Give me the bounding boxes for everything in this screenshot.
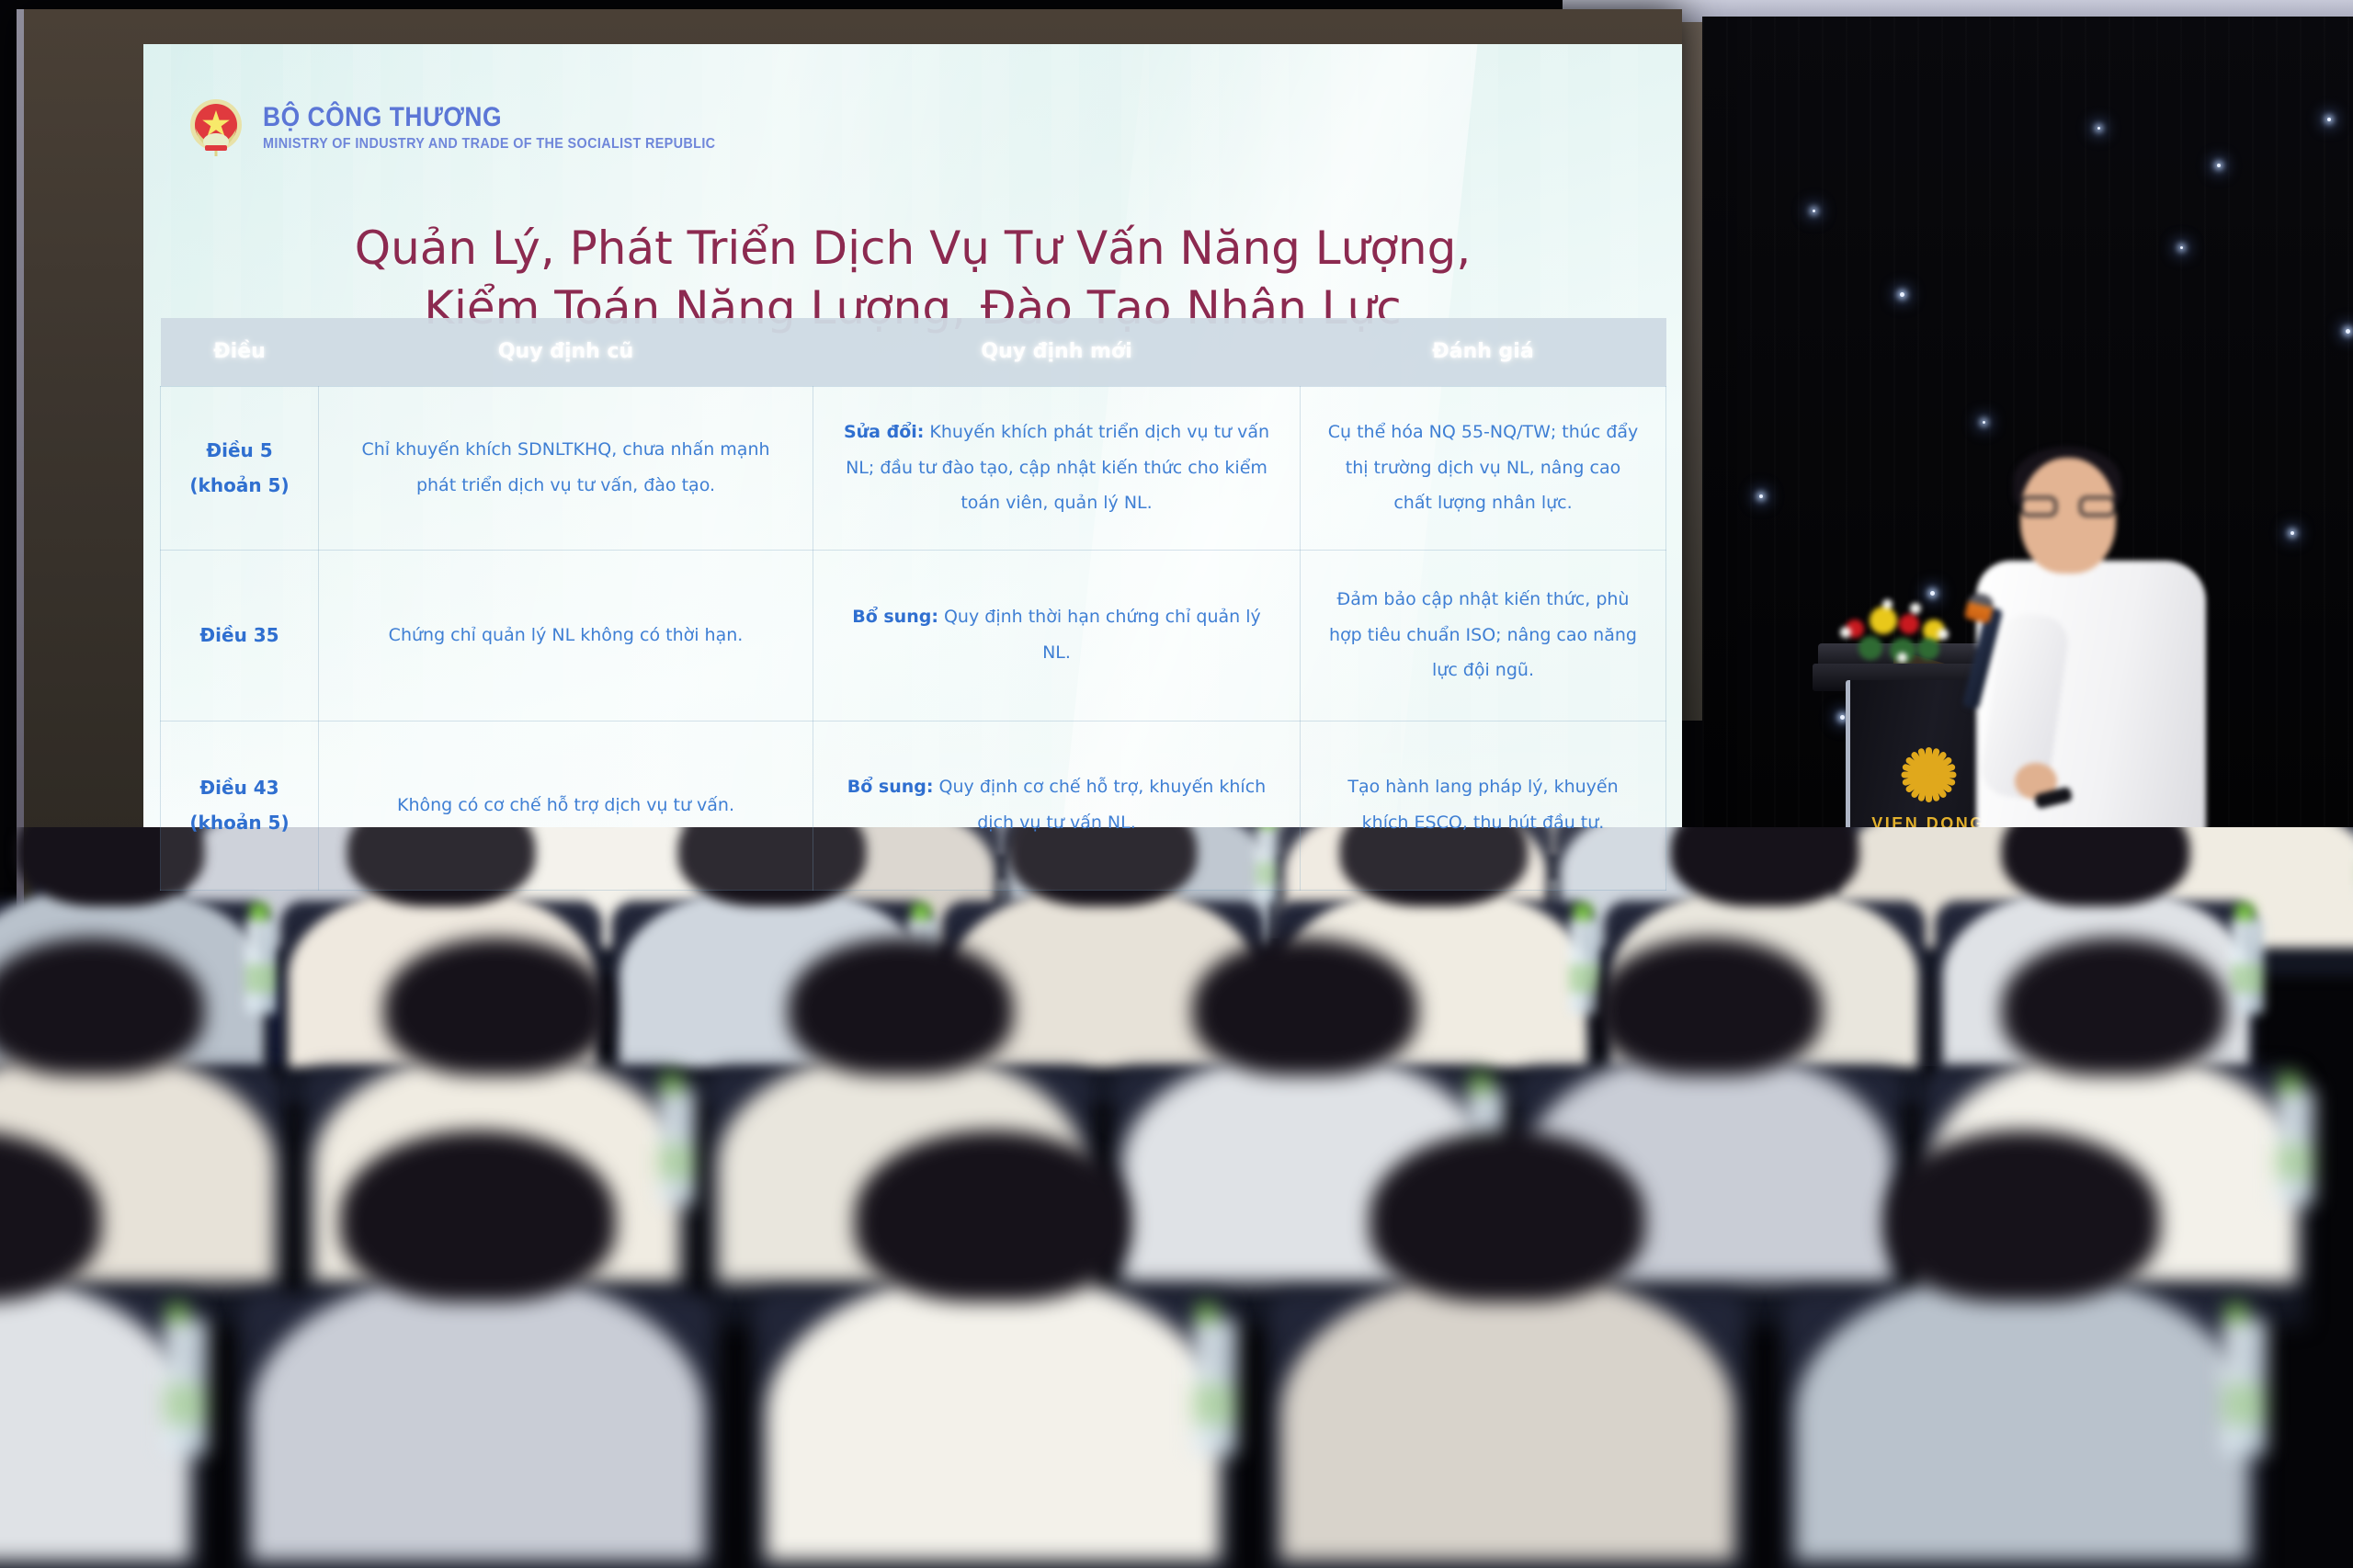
col-header-new-rule: Quy định mới: [813, 318, 1301, 386]
audience-head: [0, 937, 205, 1075]
cell-old-rule: Không có cơ chế hỗ trợ dịch vụ tư vấn.: [319, 721, 813, 890]
flower: [1840, 627, 1851, 638]
audience-member: [1268, 1131, 1746, 1568]
audience-head: [340, 1131, 616, 1301]
eyeglasses-icon: [2020, 496, 2116, 517]
flower: [1899, 614, 1919, 634]
flower: [1882, 599, 1893, 609]
audience-shoulders: [1280, 1271, 1734, 1561]
flower: [1938, 629, 1949, 640]
regulation-comparison-table: Điều Quy định cũ Quy định mới Đánh giá Đ…: [160, 318, 1666, 891]
table-row: Điều 43 (khoản 5) Không có cơ chế hỗ trợ…: [161, 721, 1666, 890]
change-detail: Quy định thời hạn chứng chỉ quản lý NL.: [938, 607, 1261, 663]
audience-member: [239, 1131, 717, 1568]
flower: [1897, 653, 1907, 663]
slide-header: BỘ CÔNG THƯƠNG MINISTRY OF INDUSTRY AND …: [188, 97, 766, 158]
title-line-1: Quản Lý, Phát Triển Dịch Vụ Tư Vấn Năng …: [143, 219, 1682, 278]
change-type-label: Sửa đổi:: [844, 422, 924, 442]
cell-assessment: Cụ thể hóa NQ 55-NQ/TW; thúc đẩy thị trư…: [1301, 386, 1666, 550]
table-row: Điều 35 Chứng chỉ quản lý NL không có th…: [161, 550, 1666, 721]
projection-screen-frame: BỘ CÔNG THƯƠNG MINISTRY OF INDUSTRY AND …: [17, 9, 1682, 970]
star-light: [1840, 715, 1845, 720]
ministry-name-vi: BỘ CÔNG THƯƠNG: [263, 103, 706, 132]
cell-old-rule: Chỉ khuyến khích SDNLTKHQ, chưa nhấn mạn…: [319, 386, 813, 550]
star-light: [2327, 118, 2331, 121]
star-light: [2346, 329, 2350, 334]
article-number: Điều 5: [206, 439, 272, 461]
star-light: [1759, 494, 1763, 498]
col-header-assessment: Đánh giá: [1301, 318, 1666, 386]
change-type-label: Bổ sung:: [847, 777, 934, 797]
ministry-name-en: MINISTRY OF INDUSTRY AND TRADE OF THE SO…: [263, 137, 715, 153]
audience-head: [789, 937, 1014, 1075]
audience-head: [1671, 827, 1859, 906]
cell-article: Điều 5 (khoản 5): [161, 386, 319, 550]
table-header-row: Điều Quy định cũ Quy định mới Đánh giá: [161, 318, 1666, 386]
vietnam-national-emblem-icon: [188, 97, 244, 158]
star-light: [2290, 531, 2294, 535]
table-row: Điều 5 (khoản 5) Chỉ khuyến khích SDNLTK…: [161, 386, 1666, 550]
flower: [1910, 603, 1921, 614]
audience-head: [1597, 937, 1823, 1075]
star-light: [1813, 210, 1815, 212]
star-light: [2097, 127, 2100, 130]
audience-head: [2002, 937, 2227, 1075]
change-detail: Quy định cơ chế hỗ trợ, khuyến khích dịc…: [934, 777, 1267, 833]
col-header-article: Điều: [161, 318, 319, 386]
cell-article: Điều 43 (khoản 5): [161, 721, 319, 890]
audience-shoulders: [0, 1271, 190, 1561]
water-bottle: [164, 1319, 208, 1455]
audience-member: [754, 1131, 1232, 1568]
article-clause: (khoản 5): [189, 474, 289, 496]
star-light: [1983, 421, 1985, 424]
flower: [1859, 636, 1882, 660]
cell-assessment: Đảm bảo cập nhật kiến thức, phù hợp tiêu…: [1301, 550, 1666, 721]
water-bottle: [2276, 1089, 2314, 1205]
flower: [1917, 638, 1939, 660]
flower-arrangement: [1838, 596, 1958, 669]
cell-new-rule: Bổ sung: Quy định thời hạn chứng chỉ quả…: [813, 550, 1301, 721]
audience-head: [1884, 1131, 2160, 1301]
star-light: [1900, 292, 1904, 297]
star-light: [2180, 246, 2183, 249]
star-light: [2217, 164, 2221, 167]
change-type-label: Bổ sung:: [852, 607, 938, 627]
audience-head: [384, 937, 609, 1075]
audience-member: [1783, 1131, 2261, 1568]
audience-area: [0, 827, 2353, 1568]
audience-shoulders: [766, 1271, 1220, 1561]
cell-new-rule: Sửa đổi: Khuyến khích phát triển dịch vụ…: [813, 386, 1301, 550]
audience-shoulders: [1795, 1271, 2249, 1561]
water-bottle: [2222, 1319, 2267, 1455]
article-number: Điều 43: [199, 777, 278, 799]
presentation-slide: BỘ CÔNG THƯƠNG MINISTRY OF INDUSTRY AND …: [143, 44, 1682, 938]
water-bottle: [1193, 1319, 1237, 1455]
audience-head: [2002, 827, 2190, 906]
audience-head: [1193, 937, 1418, 1075]
audience-head: [855, 1131, 1131, 1301]
col-header-old-rule: Quy định cũ: [319, 318, 813, 386]
audience-head: [1370, 1131, 1645, 1301]
cell-assessment: Tạo hành lang pháp lý, khuyến khích ESCO…: [1301, 721, 1666, 890]
article-clause: (khoản 5): [189, 812, 289, 834]
flower: [1870, 607, 1897, 634]
article-number: Điều 35: [199, 624, 278, 646]
cell-article: Điều 35: [161, 550, 319, 721]
audience-head: [0, 1131, 101, 1301]
audience-shoulders: [251, 1271, 705, 1561]
sunflower-icon: [1898, 744, 1959, 805]
cell-new-rule: Bổ sung: Quy định cơ chế hỗ trợ, khuyến …: [813, 721, 1301, 890]
conference-room-scene: BỘ CÔNG THƯƠNG MINISTRY OF INDUSTRY AND …: [0, 0, 2353, 1568]
cell-old-rule: Chứng chỉ quản lý NL không có thời hạn.: [319, 550, 813, 721]
